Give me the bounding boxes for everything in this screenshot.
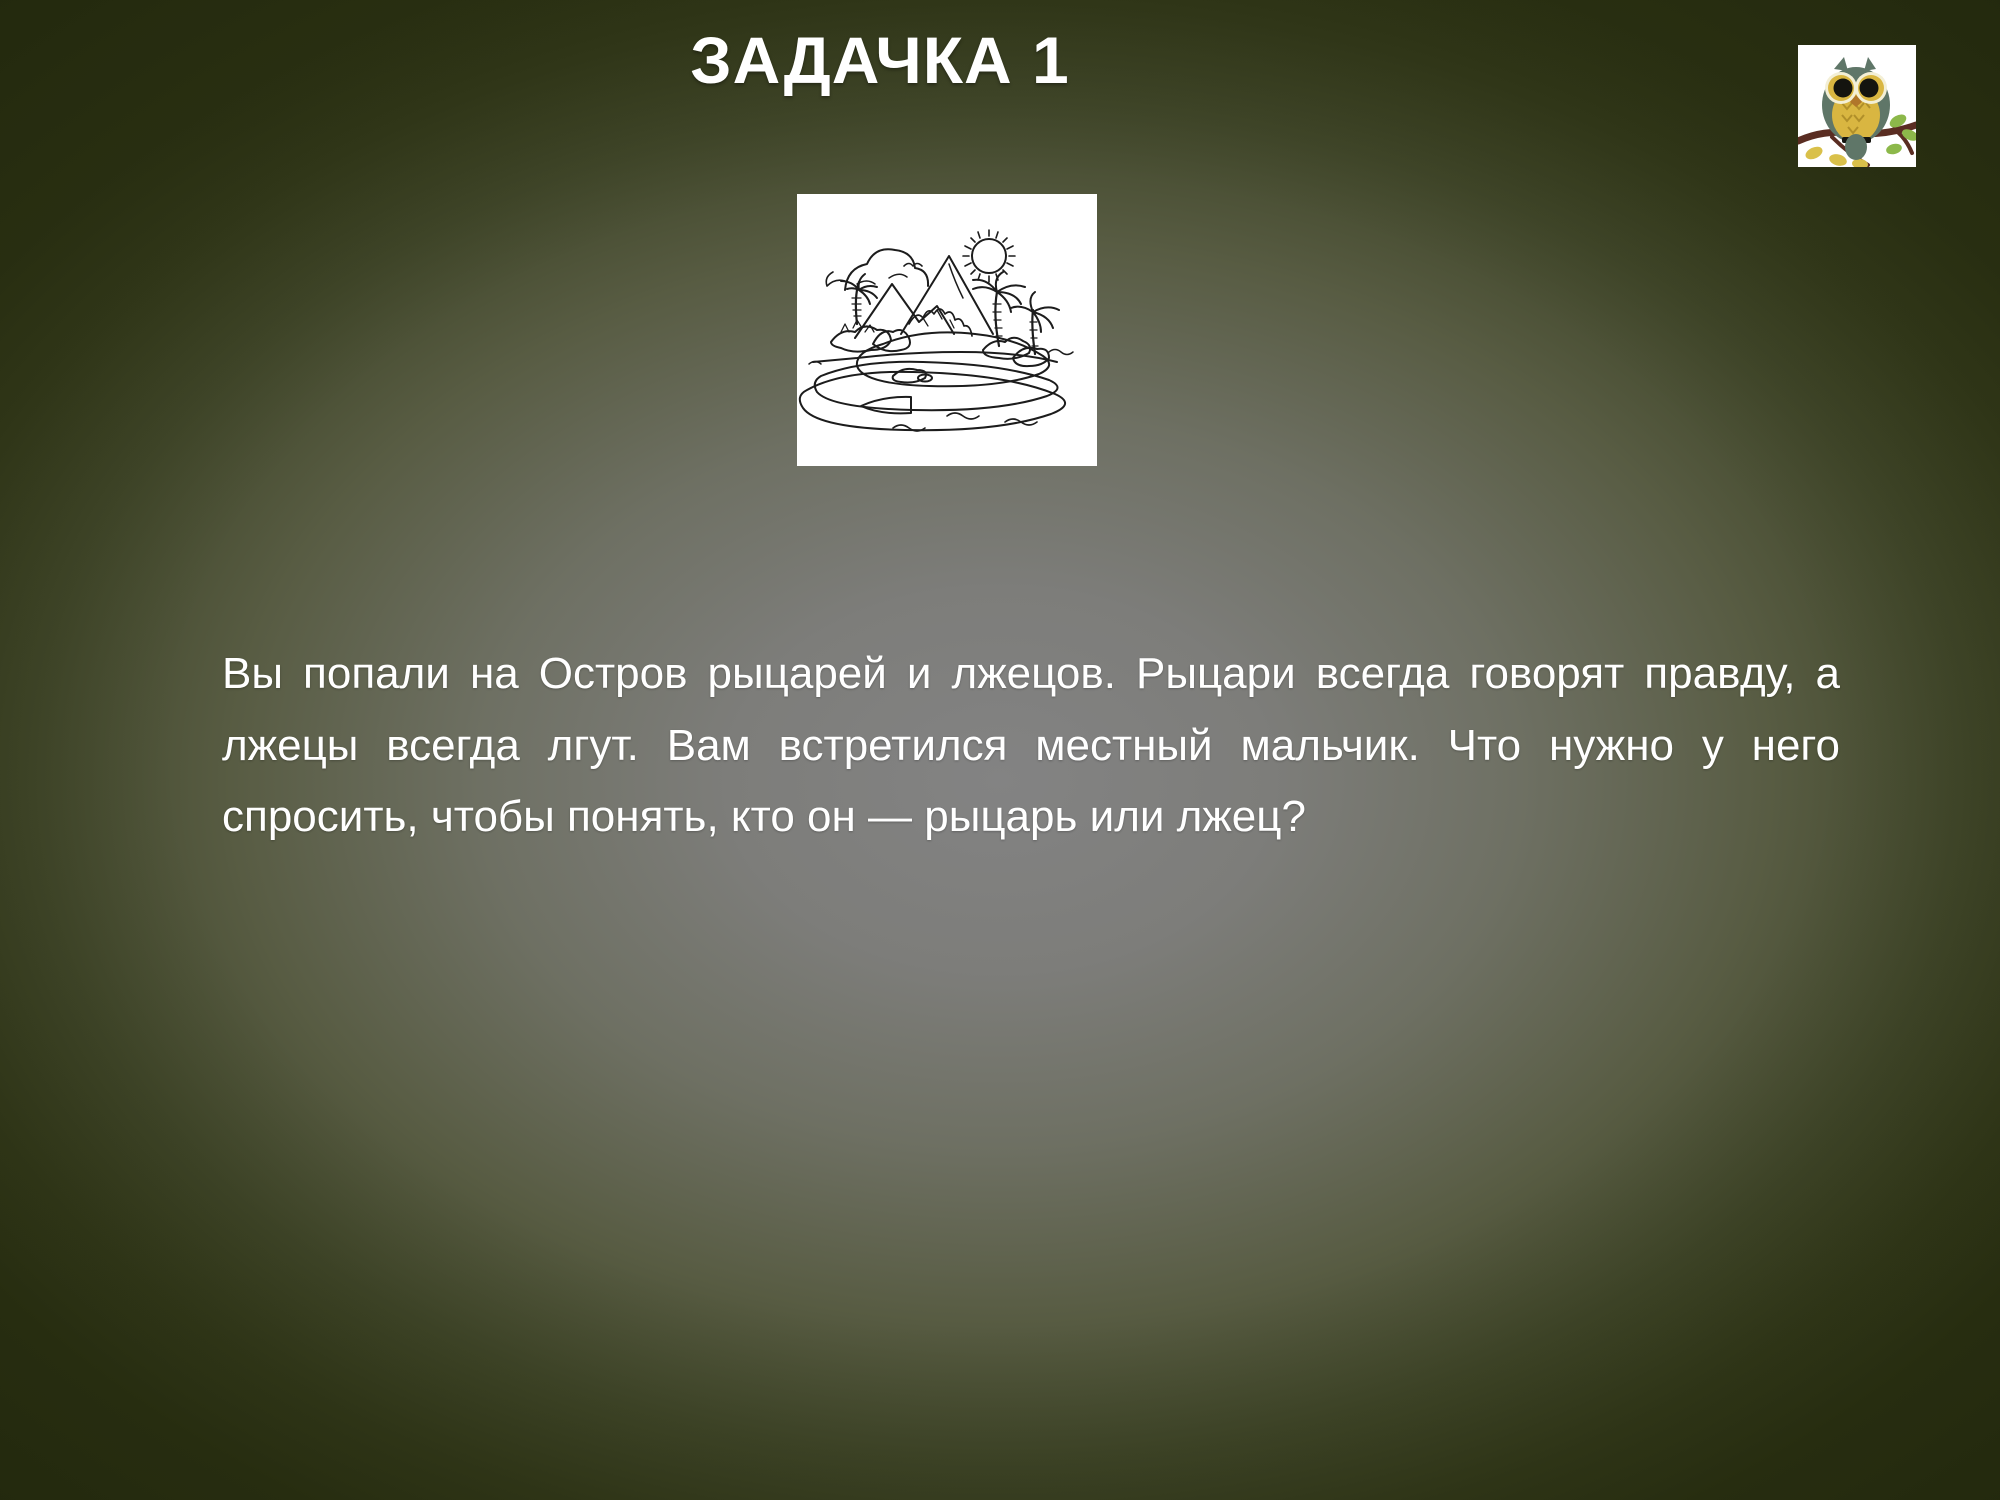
island-line-drawing-icon <box>797 194 1097 466</box>
owl-icon <box>1798 45 1916 167</box>
problem-statement: Вы попали на Остров рыцарей и лжецов. Ры… <box>222 638 1840 853</box>
owl-logo <box>1798 45 1916 167</box>
slide: ЗАДАЧКА 1 <box>0 0 2000 1500</box>
island-illustration <box>797 194 1097 466</box>
problem-statement-text: Вы попали на Остров рыцарей и лжецов. Ры… <box>222 638 1840 853</box>
page-title: ЗАДАЧКА 1 <box>0 24 1760 97</box>
